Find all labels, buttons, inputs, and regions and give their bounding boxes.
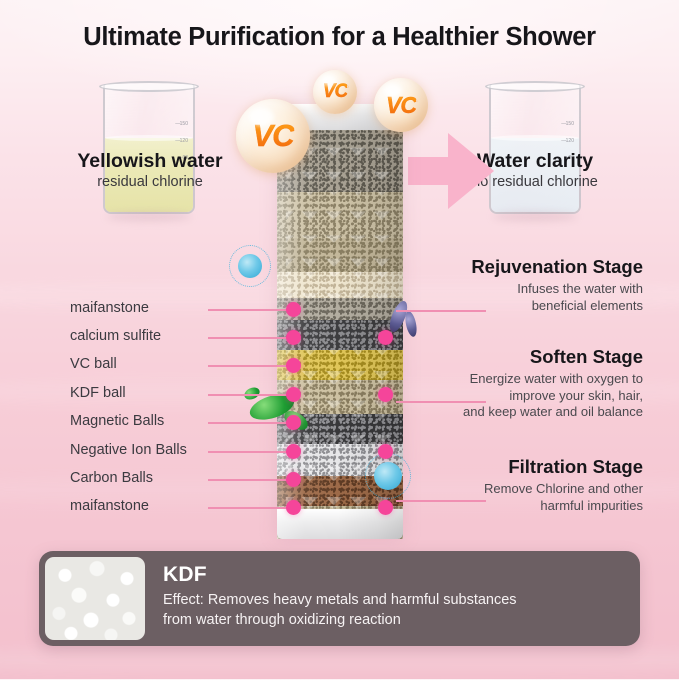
connector-dot: [378, 330, 393, 345]
vc-capsule-icon: VC: [374, 78, 428, 132]
beaker-left: 150 120 90: [103, 84, 195, 214]
material-label-4: Magnetic Balls: [70, 413, 164, 429]
stage-rejuvenation: Rejuvenation Stage Infuses the water wit…: [471, 256, 643, 314]
graduation-mark: 150: [561, 116, 574, 133]
connector-dot: [286, 415, 301, 430]
stage-title: Rejuvenation Stage: [471, 256, 643, 278]
vc-capsule-icon: VC: [313, 70, 357, 114]
stage-description: Energize water with oxygen to improve yo…: [463, 371, 643, 421]
stage-title: Filtration Stage: [484, 456, 643, 478]
connector-line: [208, 479, 290, 481]
media-layer: [277, 238, 403, 272]
connector-dot: [286, 472, 301, 487]
graduation-mark: 120: [561, 133, 574, 150]
kdf-effect: Effect: Removes heavy metals and harmful…: [163, 590, 517, 630]
beaker-rim: [485, 81, 585, 92]
graduation-mark: 120: [175, 133, 188, 150]
graduation-mark: 150: [175, 116, 188, 133]
stage-connector-line: [396, 401, 486, 403]
connector-dot: [286, 500, 301, 515]
kdf-card-body: KDF Effect: Removes heavy metals and har…: [145, 551, 533, 646]
kdf-info-card: KDF Effect: Removes heavy metals and har…: [39, 551, 640, 646]
connector-dot: [286, 330, 301, 345]
stage-description: Infuses the water with beneficial elemen…: [471, 281, 643, 314]
connector-line: [208, 422, 290, 424]
virus-icon: [238, 254, 262, 278]
connector-line: [208, 394, 290, 396]
caption-title: Yellowish water: [25, 150, 275, 173]
material-label-3: KDF ball: [70, 385, 126, 401]
stage-connector-line: [396, 500, 486, 502]
material-label-6: Carbon Balls: [70, 470, 153, 486]
connector-dot: [378, 500, 393, 515]
connector-dot: [378, 387, 393, 402]
connector-line: [208, 365, 290, 367]
water-ripple: [0, 640, 679, 680]
connector-line: [208, 309, 290, 311]
chevron-pattern: [286, 272, 394, 298]
virus-icon: [374, 462, 402, 490]
beaker-shadow: [107, 212, 191, 221]
connector-dot: [286, 302, 301, 317]
virus-spikes: [365, 453, 411, 499]
arrow-head: [448, 133, 494, 209]
kdf-balls-photo: [45, 557, 145, 640]
caption-subtitle: residual chlorine: [25, 174, 275, 190]
virus-spikes: [229, 245, 271, 287]
beaker-right: 150 120 90: [489, 84, 581, 214]
media-layer: [277, 272, 403, 298]
kdf-title: KDF: [163, 563, 517, 587]
connector-dot: [286, 444, 301, 459]
media-layer: [277, 192, 403, 238]
connector-dot: [286, 387, 301, 402]
stage-filtration: Filtration Stage Remove Chlorine and oth…: [484, 456, 643, 514]
beaker-rim: [99, 81, 199, 92]
beaker-shadow: [493, 212, 577, 221]
right-arrow-icon: [408, 133, 494, 209]
page-title: Ultimate Purification for a Healthier Sh…: [0, 23, 679, 52]
stage-soften: Soften Stage Energize water with oxygen …: [463, 346, 643, 421]
vc-capsule-icon: VC: [236, 99, 310, 173]
stage-description: Remove Chlorine and other harmful impuri…: [484, 481, 643, 514]
connector-dot: [286, 358, 301, 373]
vc-label: VC: [323, 81, 347, 103]
vc-label: VC: [386, 92, 416, 119]
vc-label: VC: [252, 118, 293, 154]
connector-line: [208, 451, 290, 453]
bacteria-rod-purple-icon: [403, 310, 418, 338]
material-label-0: maifanstone: [70, 300, 149, 316]
material-label-7: maifanstone: [70, 498, 149, 514]
connector-line: [208, 507, 290, 509]
material-label-5: Negative Ion Balls: [70, 442, 187, 458]
material-label-2: VC ball: [70, 356, 117, 372]
connector-dot: [378, 444, 393, 459]
connector-line: [208, 337, 290, 339]
chevron-pattern: [286, 350, 394, 380]
chevron-pattern: [286, 192, 394, 238]
chevron-pattern: [286, 238, 394, 272]
material-label-1: calcium sulfite: [70, 328, 161, 344]
beaker-left-caption: Yellowish water residual chlorine: [25, 150, 275, 190]
stage-connector-line: [396, 310, 486, 312]
stage-title: Soften Stage: [463, 346, 643, 368]
